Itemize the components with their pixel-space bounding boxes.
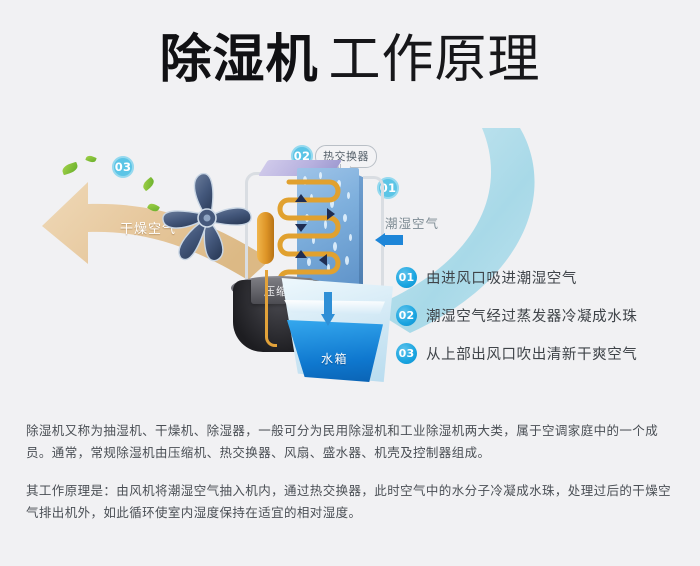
- air-inlet-arrow-icon: [375, 232, 403, 246]
- legend-badge-01: 01: [396, 267, 417, 288]
- water-tank-label: 水箱: [321, 350, 348, 367]
- legend-item[interactable]: 03 从上部出风口吹出清新干爽空气: [396, 334, 691, 372]
- drain-pipe-icon: [265, 270, 277, 347]
- legend-text-01: 由进风口吸进潮湿空气: [426, 267, 577, 288]
- leaf-icon: [85, 154, 97, 163]
- page-root: 除湿机工作原理: [0, 0, 700, 566]
- legend-item[interactable]: 02 潮湿空气经过蒸发器冷凝成水珠: [396, 296, 691, 334]
- legend-text-03: 从上部出风口吹出清新干爽空气: [426, 343, 637, 364]
- page-title-sub: 工作原理: [329, 30, 541, 90]
- page-title-main: 除湿机: [159, 30, 318, 90]
- legend-text-02: 潮湿空气经过蒸发器冷凝成水珠: [426, 305, 637, 326]
- legend-badge-02: 02: [396, 305, 417, 326]
- paragraph-2: 其工作原理是：由风机将潮湿空气抽入机内，通过热交换器，此时空气中的水分子冷凝成水…: [26, 480, 678, 524]
- page-title: 除湿机工作原理: [0, 34, 700, 86]
- legend-item[interactable]: 01 由进风口吸进潮湿空气: [396, 258, 691, 296]
- body-copy: 除湿机又称为抽湿机、干燥机、除湿器，一般可分为民用除湿机和工业除湿机两大类，属于…: [26, 420, 678, 524]
- legend-badge-03: 03: [396, 343, 417, 364]
- paragraph-1: 除湿机又称为抽湿机、干燥机、除湿器，一般可分为民用除湿机和工业除湿机两大类，属于…: [26, 420, 678, 464]
- fan-icon: [155, 170, 260, 270]
- condensate-arrow-icon: [321, 292, 335, 326]
- legend-list: 01 由进风口吸进潮湿空气 02 潮湿空气经过蒸发器冷凝成水珠 03 从上部出风…: [396, 258, 691, 372]
- diagram-badge-03: 03: [112, 156, 134, 178]
